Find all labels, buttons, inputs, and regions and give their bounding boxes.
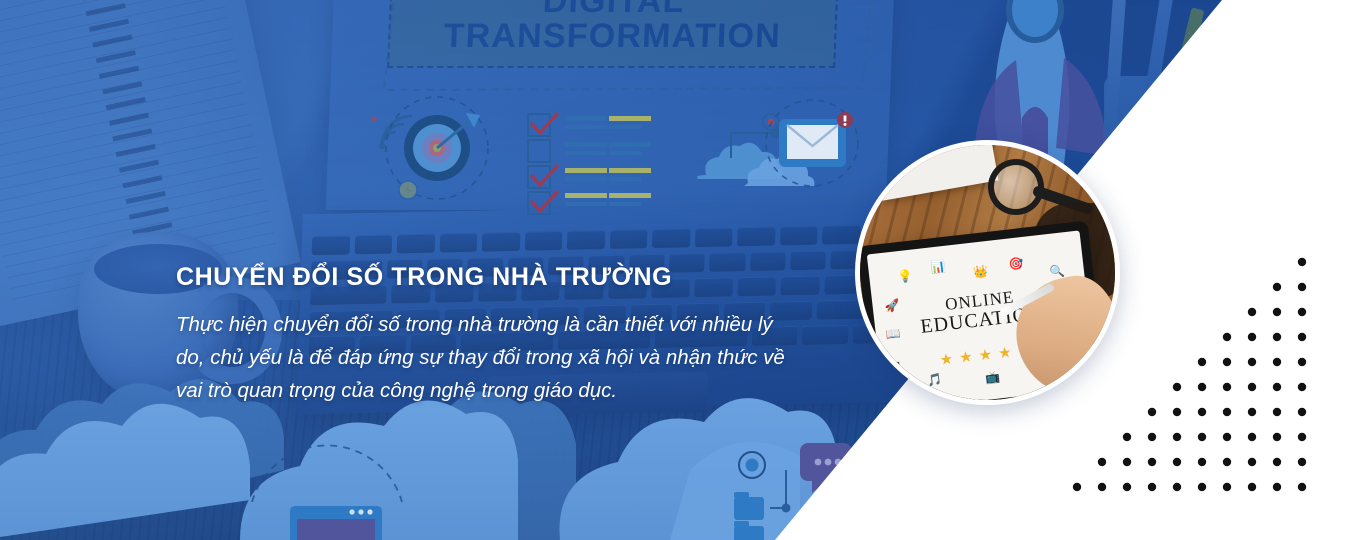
laptop-icon: 💻	[887, 359, 903, 373]
rocket-icon: 🚀	[884, 299, 900, 313]
page-title: CHUYỂN ĐỔI SỐ TRONG NHÀ TRƯỜNG	[176, 262, 816, 292]
online-education-circle-photo: ONLINE EDUCATION ★ ★ ★ ★ ★ 💡 📊 👑 🎯 🔍 🚀 📖…	[855, 140, 1120, 405]
magnifier-icon: 🔍	[1049, 264, 1065, 278]
lightbulb-icon: 💡	[897, 270, 913, 284]
video-play-icon: 📺	[985, 370, 1001, 384]
target-icon: 🎯	[1008, 257, 1024, 271]
hand-book-icon: 📖	[885, 327, 901, 341]
pencil-3	[1181, 37, 1245, 182]
music-note-icon: 🎵	[927, 373, 943, 387]
pie-chart-icon: 📊	[930, 260, 946, 274]
hero-description: Thực hiện chuyển đổi số trong nhà trường…	[176, 308, 786, 408]
crown-icon: 👑	[973, 265, 989, 279]
hero-text-block: CHUYỂN ĐỔI SỐ TRONG NHÀ TRƯỜNG Thực hiện…	[176, 262, 816, 408]
hero-banner: DIGITAL TRANSFORMATION	[0, 0, 1360, 540]
